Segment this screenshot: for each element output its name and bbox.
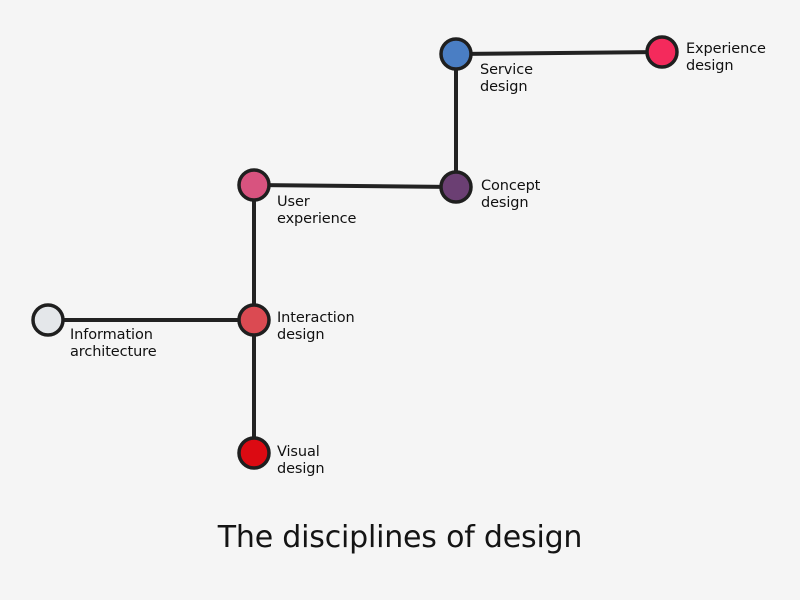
network-graph	[0, 0, 800, 600]
graph-node-visual-design[interactable]	[239, 438, 269, 468]
node-label-visual-design: Visual design	[277, 444, 325, 478]
node-label-concept-design: Concept design	[481, 178, 540, 212]
graph-node-service-design[interactable]	[441, 39, 471, 69]
diagram-canvas: Service designExperience designConcept d…	[0, 0, 800, 600]
graph-edge	[254, 185, 456, 187]
edges-group	[48, 52, 662, 453]
graph-node-user-experience[interactable]	[239, 170, 269, 200]
node-label-service-design: Service design	[480, 62, 533, 96]
graph-node-concept-design[interactable]	[441, 172, 471, 202]
diagram-title: The disciplines of design	[0, 520, 800, 555]
graph-node-interaction-design[interactable]	[239, 305, 269, 335]
graph-node-information-architecture[interactable]	[33, 305, 63, 335]
node-label-information-architecture: Information architecture	[70, 327, 157, 361]
node-label-experience-design: Experience design	[686, 41, 766, 75]
node-label-user-experience: User experience	[277, 194, 356, 228]
node-label-interaction-design: Interaction design	[277, 310, 355, 344]
nodes-group	[33, 37, 677, 468]
graph-node-experience-design[interactable]	[647, 37, 677, 67]
graph-edge	[456, 52, 662, 54]
